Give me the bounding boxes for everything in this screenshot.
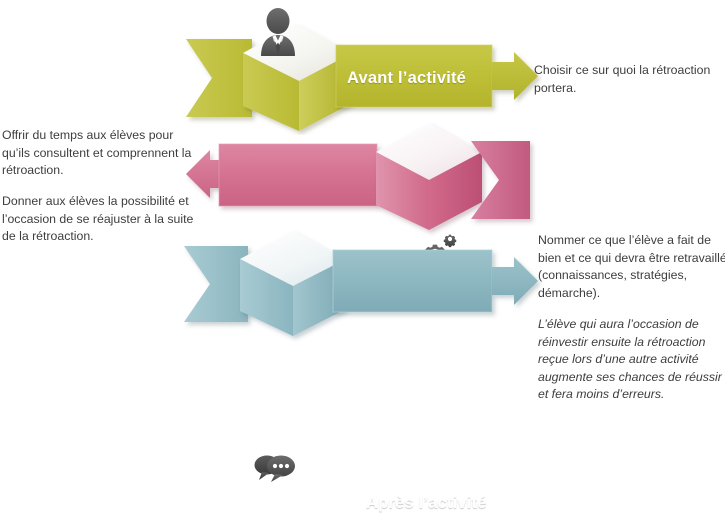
speech-bubble-icon — [252, 451, 300, 483]
diagram-canvas: Avant l’activité — [0, 0, 725, 403]
avant-arrow-right-icon — [492, 52, 538, 100]
person-icon — [256, 6, 300, 58]
annotation-right-1: Choisir ce sur quoi la rétroaction porte… — [534, 62, 724, 97]
annotation-left-1: Offrir du temps aux élèves pour qu’ils c… — [2, 127, 198, 180]
apres-box — [240, 231, 346, 336]
band-label-avant: Avant l’activité — [347, 69, 466, 88]
apres-arrow-right-icon — [492, 257, 538, 305]
apres-bar — [333, 250, 492, 312]
annotation-right-2: Nommer ce que l’élève a fait de bien et … — [538, 232, 725, 302]
pendant-bar — [219, 144, 377, 206]
pendant-box — [376, 123, 482, 230]
apres-ribbon-tail — [184, 246, 248, 322]
band-label-apres: Après l’activité — [366, 494, 487, 513]
speech-bubble-front — [267, 456, 295, 483]
annotation-left-2: Donner aux élèves la possibilité et l’oc… — [2, 193, 198, 246]
annotation-right-3: L’élève qui aura l’occasion de réinvesti… — [538, 316, 725, 404]
avant-ribbon-tail — [186, 39, 252, 117]
